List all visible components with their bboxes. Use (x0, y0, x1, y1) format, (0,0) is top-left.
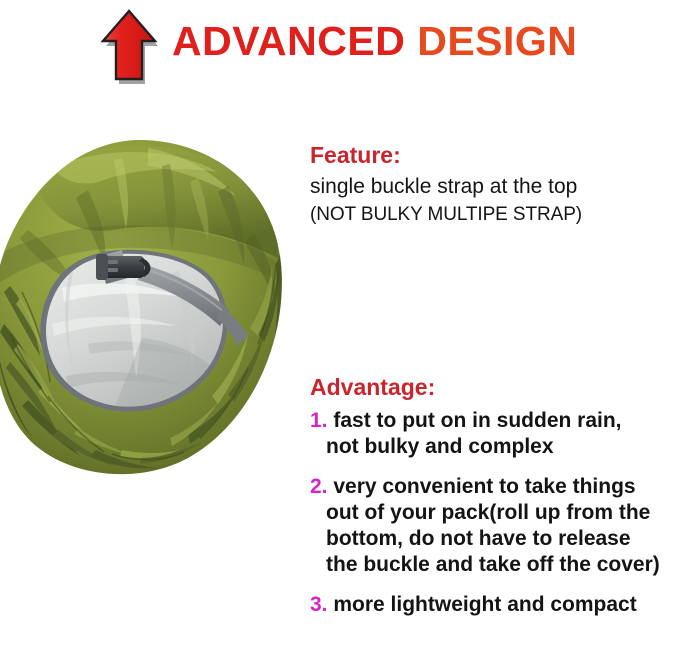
advantage-item-1-text: fast to put on in sudden rain,not bulky … (326, 409, 622, 458)
arrow-up-icon (99, 8, 161, 86)
page-title-part2: DESIGN (417, 18, 577, 64)
header-banner: ADVANCED DESIGN (0, 0, 679, 100)
advantage-item-3-text: more lightweight and compact (333, 593, 636, 616)
feature-section: Feature: single buckle strap at the top … (310, 140, 672, 229)
advantage-item-2-number: 2. (310, 475, 328, 498)
advantage-item-1-number: 1. (310, 409, 328, 432)
feature-line-2: (NOT BULKY MULTIPE STRAP) (310, 201, 672, 229)
feature-title: Feature: (310, 140, 672, 170)
advantage-title: Advantage: (310, 372, 678, 402)
advantage-item-2: 2. very convenient to take thingsout of … (310, 474, 678, 578)
page-title-part1: ADVANCED (172, 18, 405, 64)
feature-line-1: single buckle strap at the top (310, 173, 672, 201)
advantage-section: Advantage: 1. fast to put on in sudden r… (310, 372, 678, 618)
page-title: ADVANCED DESIGN (172, 17, 577, 65)
advantage-item-3: 3. more lightweight and compact (310, 592, 678, 618)
infographic-page: ADVANCED DESIGN (0, 0, 679, 646)
advantage-item-1: 1. fast to put on in sudden rain,not bul… (310, 408, 678, 460)
advantage-item-3-number: 3. (310, 593, 328, 616)
product-image (0, 138, 288, 478)
advantage-item-2-text: very convenient to take thingsout of you… (326, 475, 660, 576)
